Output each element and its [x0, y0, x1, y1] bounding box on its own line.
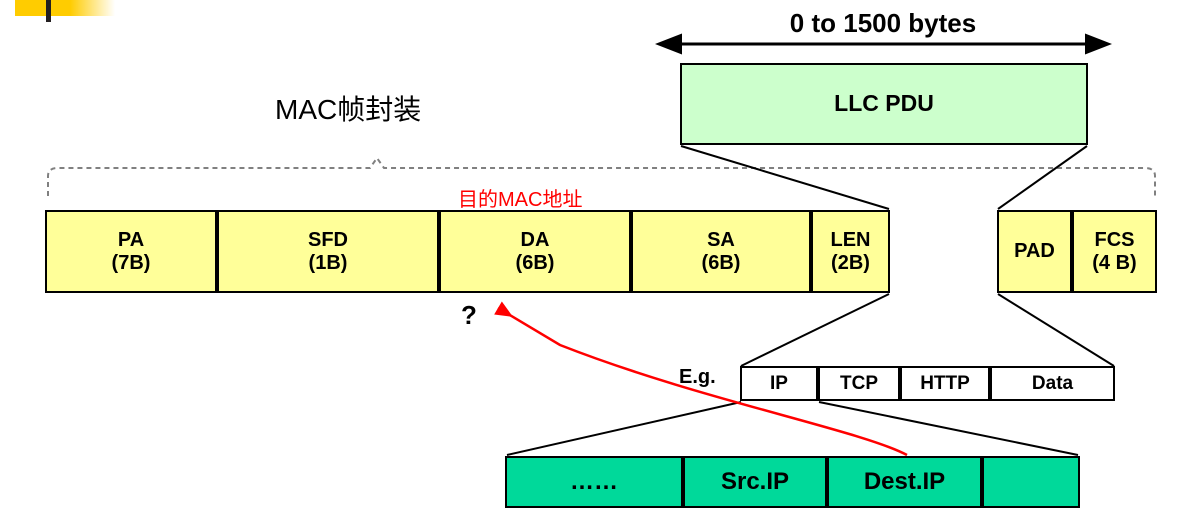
mac-field-fcs-name: FCS — [1095, 229, 1135, 251]
ip-field-src-ip: Src.IP — [683, 456, 827, 508]
mac-field-da-name: DA — [521, 229, 550, 251]
ip-to-datagram-left-connector — [507, 402, 741, 455]
ip-field-tail — [982, 456, 1080, 508]
mac-field-pa-name: PA — [118, 229, 144, 251]
eg-field-http-label: HTTP — [920, 373, 970, 394]
llc-pdu-label: LLC PDU — [834, 91, 934, 117]
mac-field-fcs: FCS (4 B) — [1072, 210, 1157, 293]
mac-encapsulation-title: MAC帧封装 — [275, 88, 421, 128]
size-label: 0 to 1500 bytes — [678, 8, 1088, 39]
eg-field-ip: IP — [740, 366, 818, 401]
mac-field-sa-name: SA — [707, 229, 735, 251]
mac-frame-bracket — [48, 158, 1155, 196]
llc-to-len-connector — [681, 146, 889, 209]
mac-field-len-size: (2B) — [831, 252, 870, 274]
ip-field-dest-ip-label: Dest.IP — [864, 469, 945, 496]
len-to-eg-connector — [741, 294, 889, 366]
eg-field-tcp: TCP — [818, 366, 900, 401]
mac-field-sa: SA (6B) — [631, 210, 811, 293]
ip-field-dest-ip: Dest.IP — [827, 456, 982, 508]
ip-field-src-ip-label: Src.IP — [721, 469, 789, 496]
yellow-accent-bar — [15, 0, 115, 16]
pad-to-eg-connector — [998, 294, 1114, 366]
mac-field-fcs-size: (4 B) — [1092, 252, 1136, 274]
diagram-canvas: 0 to 1500 bytes MAC帧封装 目的MAC地址 ? E.g. LL… — [0, 0, 1192, 530]
mac-field-sa-size: (6B) — [702, 252, 741, 274]
eg-field-data-label: Data — [1032, 373, 1073, 394]
eg-field-data: Data — [990, 366, 1115, 401]
destination-mac-note: 目的MAC地址 — [458, 183, 582, 212]
eg-field-ip-label: IP — [770, 373, 788, 394]
example-label: E.g. — [679, 366, 716, 389]
mac-field-pa: PA (7B) — [45, 210, 217, 293]
mac-field-sfd: SFD (1B) — [217, 210, 439, 293]
eg-field-http: HTTP — [900, 366, 990, 401]
mac-field-sfd-size: (1B) — [309, 252, 348, 274]
mac-field-pad: PAD — [997, 210, 1072, 293]
ip-field-ellipsis: …… — [505, 456, 683, 508]
mac-field-sfd-name: SFD — [308, 229, 348, 251]
eg-field-tcp-label: TCP — [840, 373, 878, 394]
dark-tick-mark — [46, 0, 51, 22]
ip-to-datagram-right-connector — [819, 402, 1078, 455]
llc-pdu-box: LLC PDU — [680, 63, 1088, 145]
mac-field-da: DA (6B) — [439, 210, 631, 293]
mac-field-da-size: (6B) — [516, 252, 555, 274]
llc-to-pad-connector — [998, 146, 1087, 209]
mac-field-len-name: LEN — [831, 229, 871, 251]
mac-field-pad-name: PAD — [1014, 240, 1055, 262]
mac-field-pa-size: (7B) — [112, 252, 151, 274]
question-mark-label: ? — [461, 300, 477, 331]
ip-field-ellipsis-label: …… — [570, 469, 618, 496]
mac-field-len: LEN (2B) — [811, 210, 890, 293]
